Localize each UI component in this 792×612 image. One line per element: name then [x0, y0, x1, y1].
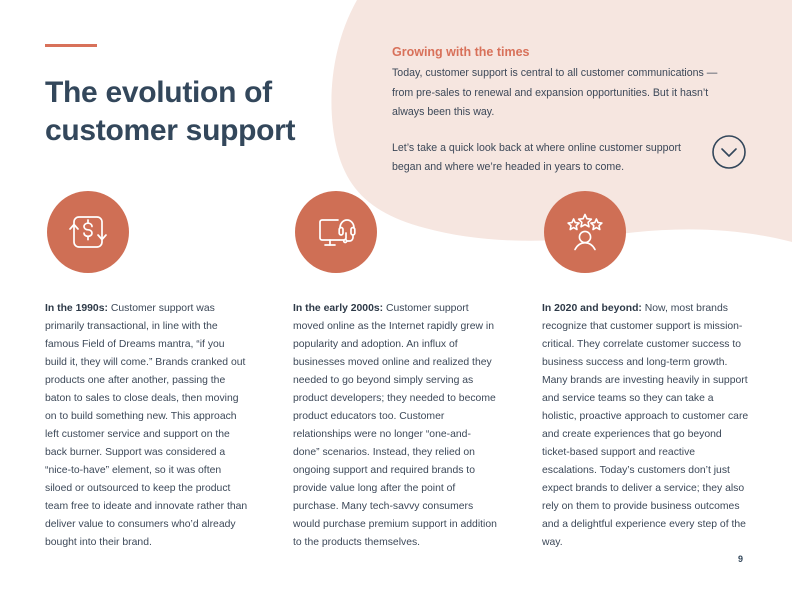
icon-circle-2000s: [295, 191, 377, 273]
page-number: 9: [738, 554, 743, 564]
body-column-2020s-text: Now, most brands recognize that customer…: [542, 303, 748, 548]
body-column-2020s-lead: In 2020 and beyond:: [542, 303, 642, 314]
chevron-down-circle-icon[interactable]: [711, 134, 747, 170]
page-title-line-2: customer support: [45, 112, 335, 150]
person-three-stars-rating-icon: [561, 208, 609, 256]
body-column-2000s-lead: In the early 2000s:: [293, 303, 383, 314]
body-column-1990s-lead: In the 1990s:: [45, 303, 108, 314]
intro-paragraph-2: Let’s take a quick look back at where on…: [392, 139, 692, 178]
slide-page: The evolution of customer support Growin…: [0, 0, 792, 612]
intro-heading: Growing with the times: [392, 43, 744, 61]
body-column-1990s: In the 1990s: Customer support was prima…: [45, 300, 249, 552]
title-accent-rule: [45, 44, 97, 47]
transaction-dollar-refresh-icon: [64, 208, 112, 256]
monitor-headset-support-icon: [312, 208, 360, 256]
body-column-1990s-text: Customer support was primarily transacti…: [45, 303, 247, 548]
intro-block: Growing with the times Today, customer s…: [392, 43, 744, 178]
page-title-line-1: The evolution of: [45, 74, 335, 112]
body-column-2000s-text: Customer support moved online as the Int…: [293, 303, 497, 548]
icon-circle-1990s: [47, 191, 129, 273]
page-title: The evolution of customer support: [45, 74, 335, 150]
intro-paragraph-1: Today, customer support is central to al…: [392, 64, 740, 123]
body-column-2000s: In the early 2000s: Customer support mov…: [293, 300, 497, 552]
body-column-2020s: In 2020 and beyond: Now, most brands rec…: [542, 300, 750, 552]
icon-circle-2020s: [544, 191, 626, 273]
